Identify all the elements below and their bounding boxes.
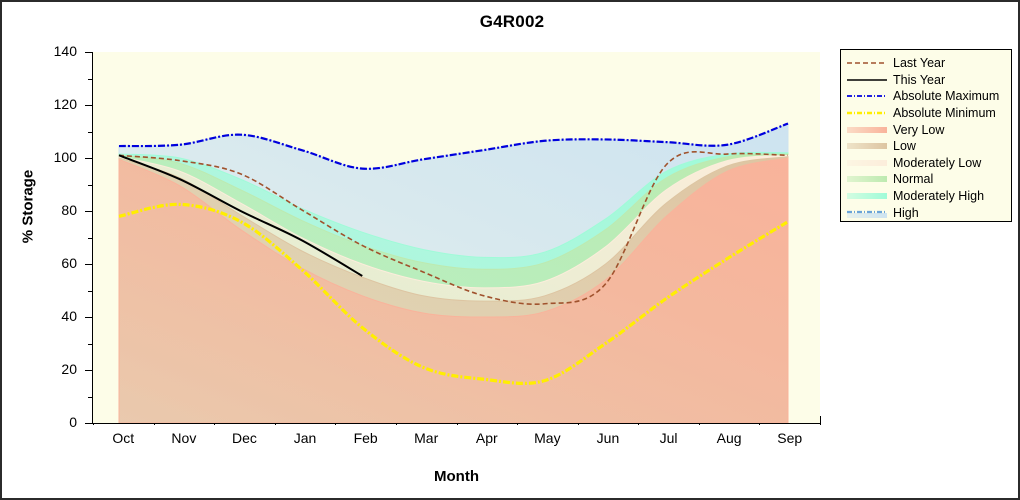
y-tick-label: 140 — [31, 43, 77, 59]
legend-item-label: Low — [893, 140, 916, 152]
legend-item-label: Moderately Low — [893, 157, 981, 169]
legend-item-label: Very Low — [893, 124, 944, 136]
legend-item-label: Moderately High — [893, 190, 984, 202]
x-tick-label: Feb — [331, 430, 401, 446]
x-axis-title: Month — [93, 468, 820, 485]
legend-swatch-icon — [847, 207, 887, 219]
legend-swatch-icon — [847, 124, 887, 136]
x-tick-label: May — [512, 430, 582, 446]
legend-item-label: Normal — [893, 173, 933, 185]
x-tick-label: Apr — [452, 430, 522, 446]
legend-swatch-icon — [847, 173, 887, 185]
x-tick-label: Jun — [573, 430, 643, 446]
plot-area — [93, 52, 820, 423]
chart-window: G4R002 % Storage Month 02040608010012014… — [0, 0, 1020, 500]
legend-item-label: Absolute Minimum — [893, 107, 996, 119]
legend-swatch-icon — [847, 190, 887, 202]
legend-item-low[interactable]: Low — [847, 138, 1011, 155]
x-tick-label: Sep — [755, 430, 825, 446]
x-tick-label: Jan — [270, 430, 340, 446]
y-tick-label: 100 — [31, 149, 77, 165]
legend-item-very-low[interactable]: Very Low — [847, 121, 1011, 138]
legend-item-label: Absolute Maximum — [893, 90, 999, 102]
legend-item-last-year[interactable]: Last Year — [847, 55, 1011, 72]
y-tick-label: 80 — [31, 202, 77, 218]
legend-item-this-year[interactable]: This Year — [847, 72, 1011, 89]
legend-item-moderately-high[interactable]: Moderately High — [847, 188, 1011, 205]
y-tick-label: 0 — [31, 414, 77, 430]
legend-item-high[interactable]: High — [847, 204, 1011, 221]
x-tick-label: Oct — [88, 430, 158, 446]
legend-item-moderately-low[interactable]: Moderately Low — [847, 155, 1011, 172]
y-tick-label: 40 — [31, 308, 77, 324]
x-tick-label: Nov — [149, 430, 219, 446]
legend-swatch-icon — [847, 140, 887, 152]
x-tick-label: Mar — [391, 430, 461, 446]
x-tick-label: Jul — [634, 430, 704, 446]
legend-item-label: This Year — [893, 74, 945, 86]
page-title: G4R002 — [2, 12, 1020, 32]
legend-item-label: High — [893, 207, 919, 219]
x-tick-label: Aug — [694, 430, 764, 446]
chart-legend: Last YearThis YearAbsolute MaximumAbsolu… — [840, 49, 1012, 222]
legend-line-icon — [847, 107, 887, 119]
legend-line-icon — [847, 74, 887, 86]
x-tick-label: Dec — [209, 430, 279, 446]
legend-line-icon — [847, 90, 887, 102]
y-tick-label: 120 — [31, 96, 77, 112]
y-tick-label: 20 — [31, 361, 77, 377]
legend-line-icon — [847, 57, 887, 69]
x-tick — [820, 416, 821, 425]
y-tick-label: 60 — [31, 255, 77, 271]
legend-item-absolute-minimum[interactable]: Absolute Minimum — [847, 105, 1011, 122]
legend-swatch-icon — [847, 157, 887, 169]
legend-item-absolute-maximum[interactable]: Absolute Maximum — [847, 88, 1011, 105]
legend-item-label: Last Year — [893, 57, 945, 69]
chart-canvas — [93, 52, 820, 423]
legend-item-normal[interactable]: Normal — [847, 171, 1011, 188]
